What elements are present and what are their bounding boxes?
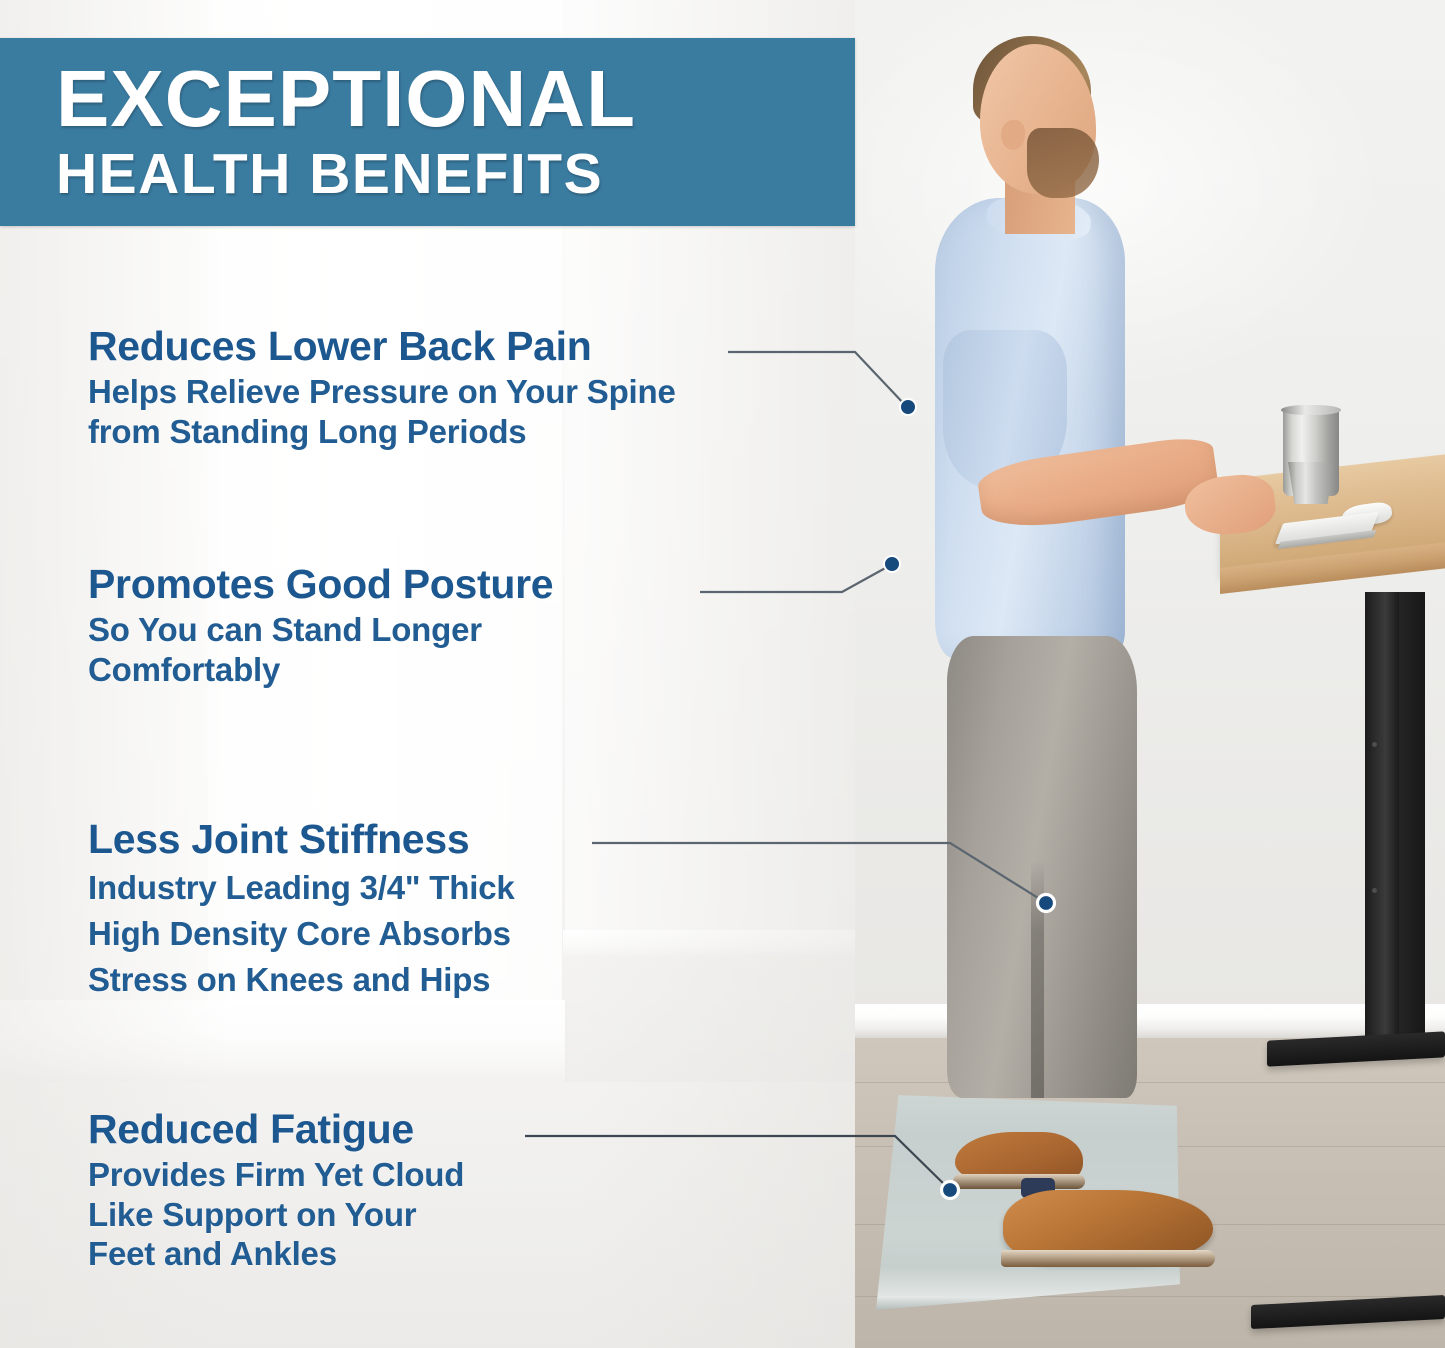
tumbler-base (1288, 462, 1334, 504)
benefit-body-line: Comfortably (88, 650, 553, 690)
benefit-body-line: from Standing Long Periods (88, 412, 676, 452)
benefit-title: Promotes Good Posture (88, 563, 553, 606)
benefit-body: Helps Relieve Pressure on Your Spine fro… (88, 372, 676, 451)
product-photo-panel (855, 0, 1445, 1348)
banner-title-line2: HEALTH BENEFITS (56, 145, 855, 203)
header-banner: EXCEPTIONAL HEALTH BENEFITS (0, 38, 855, 226)
benefit-body: So You can Stand Longer Comfortably (88, 610, 553, 689)
shoe-back-sole (953, 1174, 1085, 1189)
benefit-item-3: Less Joint Stiffness Industry Leading 3/… (88, 818, 515, 1004)
health-benefits-infographic: EXCEPTIONAL HEALTH BENEFITS Reduces Lowe… (0, 0, 1445, 1348)
benefit-item-4: Reduced Fatigue Provides Firm Yet Cloud … (88, 1108, 464, 1274)
benefit-item-2: Promotes Good Posture So You can Stand L… (88, 563, 553, 689)
benefit-title: Reduced Fatigue (88, 1108, 464, 1151)
benefit-body: Provides Firm Yet Cloud Like Support on … (88, 1155, 464, 1274)
shoe-front-sole (1001, 1250, 1215, 1267)
desk-leg-column (1365, 592, 1399, 1044)
benefit-title: Less Joint Stiffness (88, 818, 515, 861)
benefit-body-line: High Density Core Absorbs (88, 911, 515, 957)
desk-leg-column-back (1399, 592, 1425, 1044)
benefit-body-line: Stress on Knees and Hips (88, 957, 515, 1003)
tumbler-lid (1281, 405, 1341, 415)
benefit-body: Industry Leading 3/4" Thick High Density… (88, 865, 515, 1004)
benefit-body-line: Helps Relieve Pressure on Your Spine (88, 372, 676, 412)
room-baseboard (855, 1004, 1445, 1038)
pants-leg-shadow (1031, 860, 1044, 1098)
benefit-body-line: Feet and Ankles (88, 1234, 464, 1274)
benefit-item-1: Reduces Lower Back Pain Helps Relieve Pr… (88, 325, 676, 451)
benefit-body-line: So You can Stand Longer (88, 610, 553, 650)
person-ear (1001, 120, 1025, 150)
benefit-title: Reduces Lower Back Pain (88, 325, 676, 368)
benefit-body-line: Provides Firm Yet Cloud (88, 1155, 464, 1195)
banner-title-line1: EXCEPTIONAL (56, 61, 855, 136)
benefit-body-line: Industry Leading 3/4" Thick (88, 865, 515, 911)
benefit-body-line: Like Support on Your (88, 1195, 464, 1235)
